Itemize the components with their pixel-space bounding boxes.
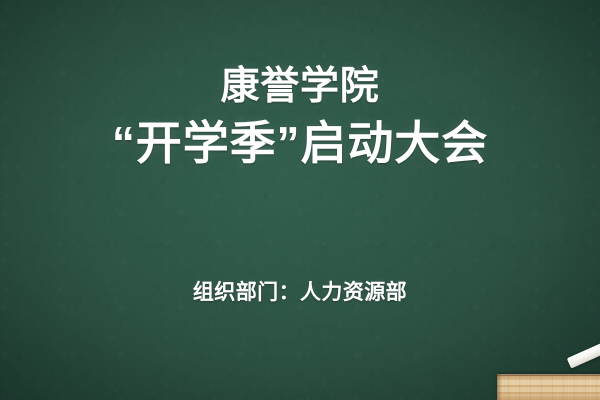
subtitle-organizing-department: 组织部门：人力资源部 (0, 276, 600, 306)
title-line-2: “开学季”启动大会 (0, 116, 600, 170)
chalk-tray-end-cap (497, 374, 502, 400)
slide-content: 康誉学院 “开学季”启动大会 组织部门：人力资源部 (0, 0, 600, 400)
chalkboard-title-slide: 康誉学院 “开学季”启动大会 组织部门：人力资源部 (0, 0, 600, 400)
title-line-1: 康誉学院 (0, 64, 600, 110)
title-block: 康誉学院 “开学季”启动大会 (0, 64, 600, 170)
chalk-tray (497, 374, 600, 400)
